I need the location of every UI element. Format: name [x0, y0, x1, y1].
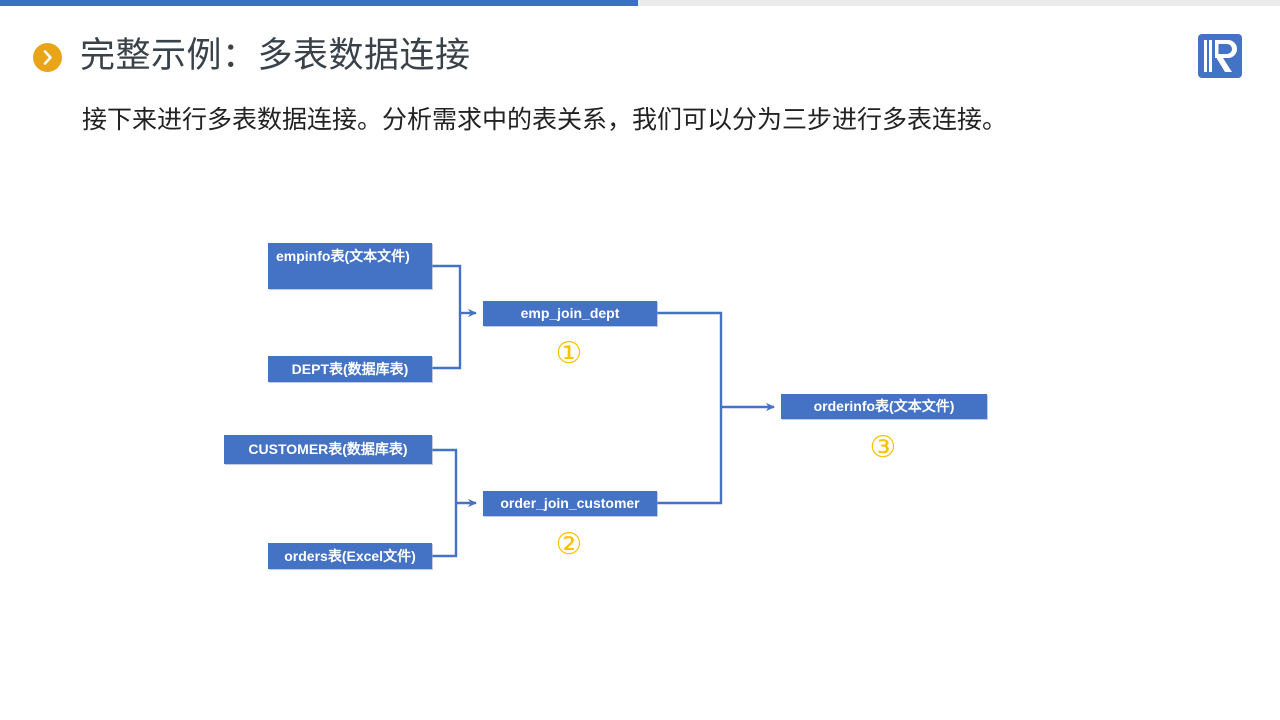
node-label: emp_join_dept	[483, 301, 657, 326]
node-label: orders表(Excel文件)	[268, 543, 432, 569]
node-label: DEPT表(数据库表)	[268, 356, 432, 382]
node-label: empinfo表(文本文件)	[276, 247, 426, 266]
diagram-connectors	[0, 0, 1280, 720]
node-label: CUSTOMER表(数据库表)	[224, 435, 432, 464]
node-orders-source[interactable]: orders表(Excel文件)	[268, 543, 432, 569]
step-marker-one: ①	[539, 339, 599, 369]
node-label: order_join_customer	[483, 491, 657, 516]
step-marker-two: ②	[539, 530, 599, 560]
node-dept-source[interactable]: DEPT表(数据库表)	[268, 356, 432, 382]
node-emp-join-dept[interactable]: emp_join_dept	[483, 301, 657, 326]
multi-table-join-diagram: empinfo表(文本文件) DEPT表(数据库表) CUSTOMER表(数据库…	[0, 0, 1280, 720]
node-order-join-customer[interactable]: order_join_customer	[483, 491, 657, 516]
step-marker-three: ③	[853, 433, 913, 463]
node-customer-source[interactable]: CUSTOMER表(数据库表)	[224, 435, 432, 464]
node-label: orderinfo表(文本文件)	[781, 394, 987, 419]
node-empinfo-source[interactable]: empinfo表(文本文件)	[268, 243, 432, 289]
node-orderinfo-result[interactable]: orderinfo表(文本文件)	[781, 394, 987, 419]
